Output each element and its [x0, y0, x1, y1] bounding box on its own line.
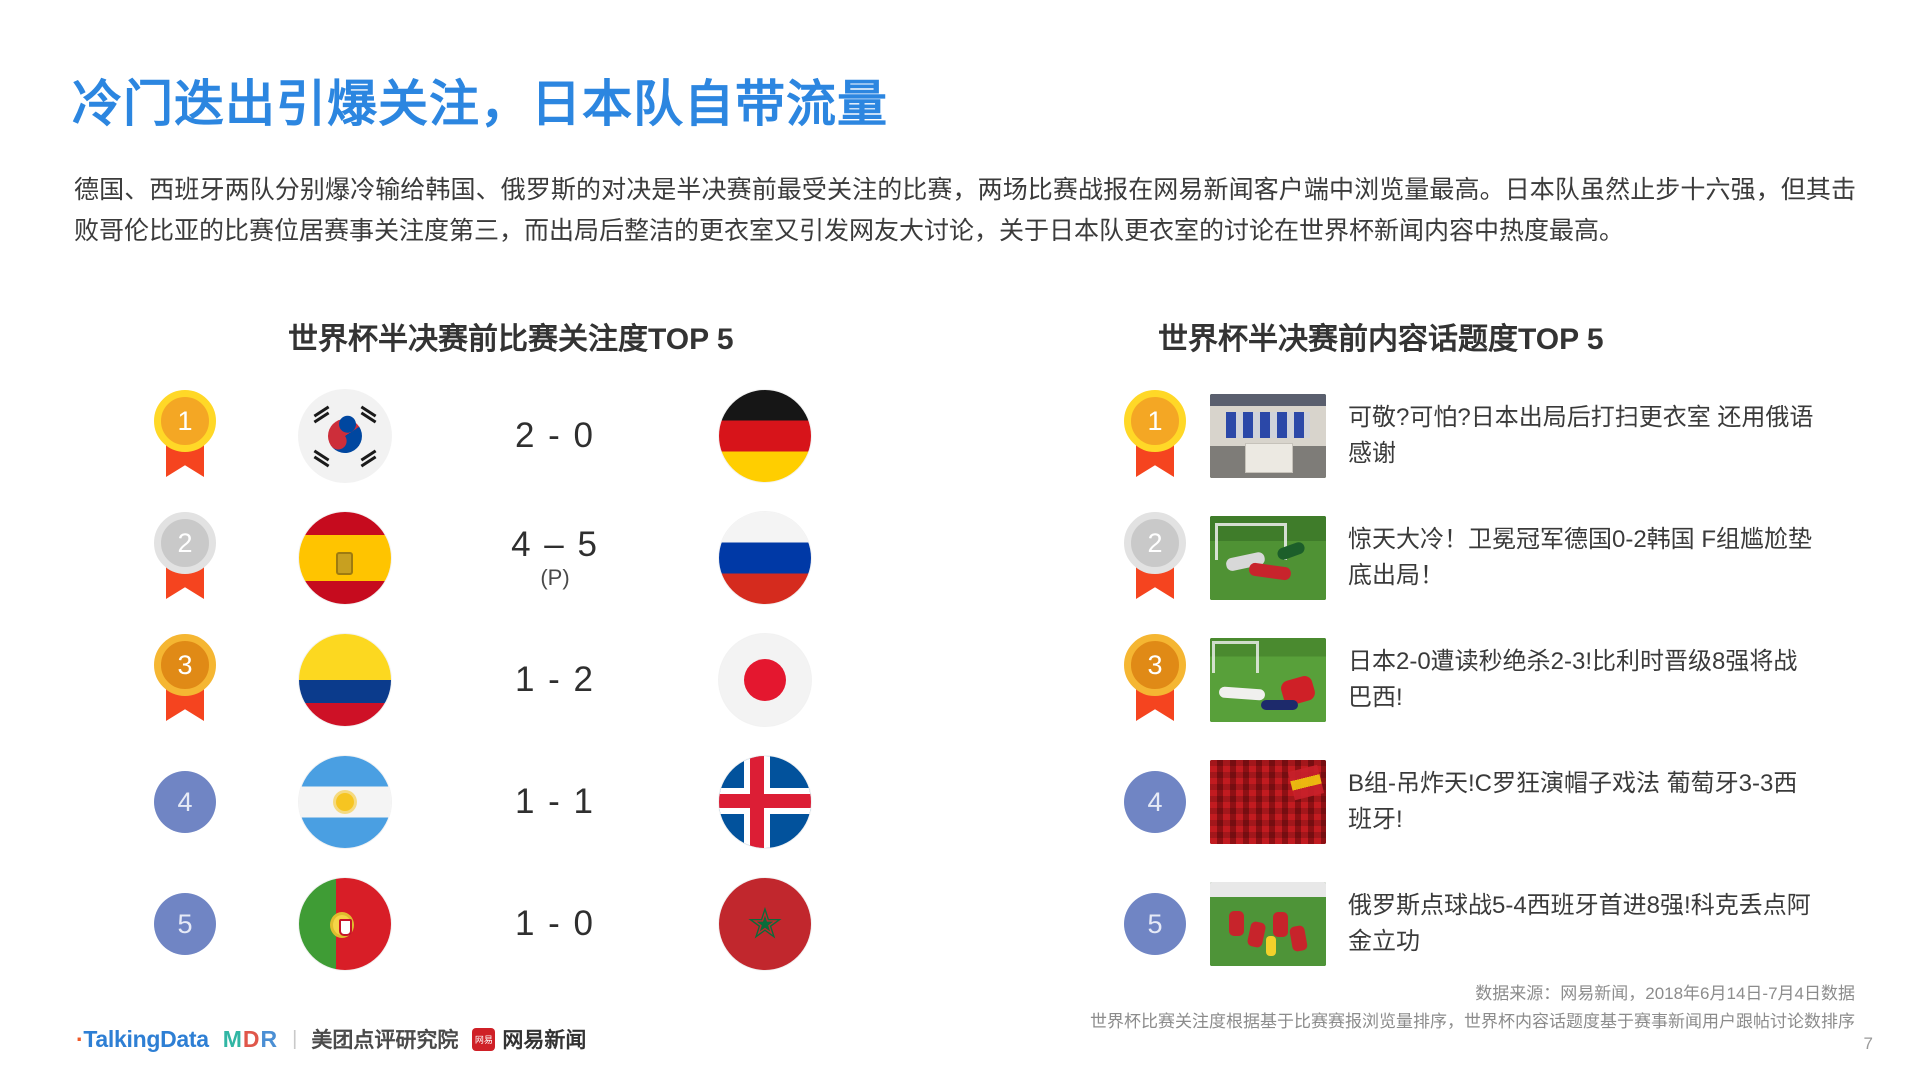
score-value: 1 - 0 — [515, 904, 595, 943]
rank-badge: 4 — [154, 771, 216, 833]
home-flag-cell — [250, 756, 440, 848]
news-thumbnail[interactable] — [1210, 516, 1326, 600]
table-row[interactable]: 1 2 - 0 — [120, 375, 920, 497]
list-item[interactable]: 5 俄罗斯点球战5-4西班牙首进8强!科克丢点阿金立功 — [1100, 863, 1880, 985]
away-flag-cell — [670, 390, 860, 482]
table-row[interactable]: 4 1 - 1 — [120, 741, 920, 863]
rank-number: 4 — [177, 787, 192, 818]
talkingdata-logo: ·TalkingData — [76, 1026, 209, 1053]
germany-flag-icon — [719, 390, 811, 482]
rank-cell: 5 — [1100, 893, 1210, 955]
page-number: 7 — [1864, 1034, 1873, 1054]
score-value: 1 - 1 — [515, 782, 595, 821]
away-flag-cell: ✭ — [670, 878, 860, 970]
gold-medal-icon: 1 — [154, 390, 216, 482]
mdr-logo: MDR — [223, 1026, 278, 1053]
rank-badge: 4 — [1124, 771, 1186, 833]
slide-root: 冷门迭出引爆关注，日本队自带流量 德国、西班牙两队分别爆冷输给韩国、俄罗斯的对决… — [0, 0, 1921, 1080]
rank-number: 2 — [1124, 512, 1186, 574]
home-flag-cell — [250, 878, 440, 970]
away-flag-cell — [670, 512, 860, 604]
table-row[interactable]: 2 4 – 5 (P) — [120, 497, 920, 619]
table-row[interactable]: 5 1 - 0 ✭ — [120, 863, 920, 985]
argentina-flag-icon — [299, 756, 391, 848]
score-cell: 1 - 2 — [440, 660, 670, 700]
home-flag-cell — [250, 634, 440, 726]
news-thumbnail[interactable] — [1210, 394, 1326, 478]
page-title: 冷门迭出引爆关注，日本队自带流量 — [72, 64, 888, 136]
list-item[interactable]: 2 惊天大冷！卫冕冠军德国0-2韩国 F组尴尬垫底出局！ — [1100, 497, 1880, 619]
score-value: 2 - 0 — [515, 416, 595, 455]
colombia-flag-icon — [299, 634, 391, 726]
rank-number: 4 — [1147, 787, 1162, 818]
netease-news-logo: 网易 网易新闻 — [472, 1024, 586, 1054]
bronze-medal-icon: 3 — [1124, 634, 1186, 726]
table-row[interactable]: 3 1 - 2 — [120, 619, 920, 741]
bronze-medal-icon: 3 — [154, 634, 216, 726]
morocco-flag-icon: ✭ — [719, 878, 811, 970]
rank-cell: 3 — [120, 634, 250, 726]
rank-cell: 4 — [120, 771, 250, 833]
match-ranking-list: 1 2 - 0 — [120, 375, 920, 985]
rank-number: 5 — [1147, 909, 1162, 940]
netease-logo-text: 网易新闻 — [502, 1024, 586, 1054]
source-line-2: 世界杯比赛关注度根据基于比赛赛报浏览量排序，世界杯内容话题度基于赛事新闻用户跟帖… — [1090, 1008, 1855, 1036]
list-item[interactable]: 3 日本2-0遭读秒绝杀2-3!比利时晋级8强将战巴西! — [1100, 619, 1880, 741]
score-cell: 1 - 1 — [440, 782, 670, 822]
news-headline[interactable]: 俄罗斯点球战5-4西班牙首进8强!科克丢点阿金立功 — [1348, 888, 1818, 960]
rank-badge: 5 — [154, 893, 216, 955]
away-flag-cell — [670, 756, 860, 848]
silver-medal-icon: 2 — [1124, 512, 1186, 604]
korea-flag-icon — [299, 390, 391, 482]
rank-cell: 1 — [1100, 390, 1210, 482]
news-ranking-list: 1 可敬?可怕?日本出局后打扫更衣室 还用俄语感谢 2 惊天大冷！卫冕冠军德国0… — [1100, 375, 1880, 985]
rank-number: 3 — [154, 634, 216, 696]
gold-medal-icon: 1 — [1124, 390, 1186, 482]
rank-number: 1 — [154, 390, 216, 452]
list-item[interactable]: 1 可敬?可怕?日本出局后打扫更衣室 还用俄语感谢 — [1100, 375, 1880, 497]
news-headline[interactable]: 日本2-0遭读秒绝杀2-3!比利时晋级8强将战巴西! — [1348, 644, 1818, 716]
japan-flag-icon — [719, 634, 811, 726]
rank-cell: 2 — [120, 512, 250, 604]
news-thumbnail[interactable] — [1210, 638, 1326, 722]
netease-mark-icon: 网易 — [472, 1028, 495, 1051]
score-cell: 2 - 0 — [440, 416, 670, 456]
right-panel-heading: 世界杯半决赛前内容话题度TOP 5 — [1158, 314, 1604, 358]
rank-cell: 4 — [1100, 771, 1210, 833]
source-line-1: 数据来源：网易新闻，2018年6月14日-7月4日数据 — [1090, 980, 1855, 1008]
logo-bar: ·TalkingData MDR | 美团点评研究院 网易 网易新闻 — [76, 1024, 586, 1054]
away-flag-cell — [670, 634, 860, 726]
silver-medal-icon: 2 — [154, 512, 216, 604]
rank-cell: 2 — [1100, 512, 1210, 604]
left-panel-heading: 世界杯半决赛前比赛关注度TOP 5 — [288, 314, 734, 358]
rank-number: 2 — [154, 512, 216, 574]
news-headline[interactable]: 惊天大冷！卫冕冠军德国0-2韩国 F组尴尬垫底出局！ — [1348, 522, 1818, 594]
rank-cell: 5 — [120, 893, 250, 955]
score-cell: 1 - 0 — [440, 904, 670, 944]
rank-number: 5 — [177, 909, 192, 940]
rank-number: 3 — [1124, 634, 1186, 696]
penalty-note: (P) — [440, 565, 670, 590]
news-headline[interactable]: B组-吊炸天!C罗狂演帽子戏法 葡萄牙3-3西班牙! — [1348, 766, 1818, 838]
intro-paragraph: 德国、西班牙两队分别爆冷输给韩国、俄罗斯的对决是半决赛前最受关注的比赛，两场比赛… — [74, 170, 1856, 252]
score-cell: 4 – 5 (P) — [440, 525, 670, 591]
iceland-flag-icon — [719, 756, 811, 848]
rank-cell: 1 — [120, 390, 250, 482]
portugal-flag-icon — [299, 878, 391, 970]
home-flag-cell — [250, 512, 440, 604]
list-item[interactable]: 4 B组-吊炸天!C罗狂演帽子戏法 葡萄牙3-3西班牙! — [1100, 741, 1880, 863]
logo-divider: | — [292, 1028, 297, 1051]
score-value: 1 - 2 — [515, 660, 595, 699]
rank-cell: 3 — [1100, 634, 1210, 726]
score-value: 4 – 5 — [511, 525, 599, 564]
talkingdata-logo-text: TalkingData — [83, 1026, 208, 1052]
russia-flag-icon — [719, 512, 811, 604]
news-thumbnail[interactable] — [1210, 882, 1326, 966]
news-thumbnail[interactable] — [1210, 760, 1326, 844]
home-flag-cell — [250, 390, 440, 482]
source-note: 数据来源：网易新闻，2018年6月14日-7月4日数据 世界杯比赛关注度根据基于… — [1090, 980, 1855, 1036]
rank-number: 1 — [1124, 390, 1186, 452]
meituan-research-logo: 美团点评研究院 — [311, 1024, 458, 1054]
spain-flag-icon — [299, 512, 391, 604]
rank-badge: 5 — [1124, 893, 1186, 955]
news-headline[interactable]: 可敬?可怕?日本出局后打扫更衣室 还用俄语感谢 — [1348, 400, 1818, 472]
